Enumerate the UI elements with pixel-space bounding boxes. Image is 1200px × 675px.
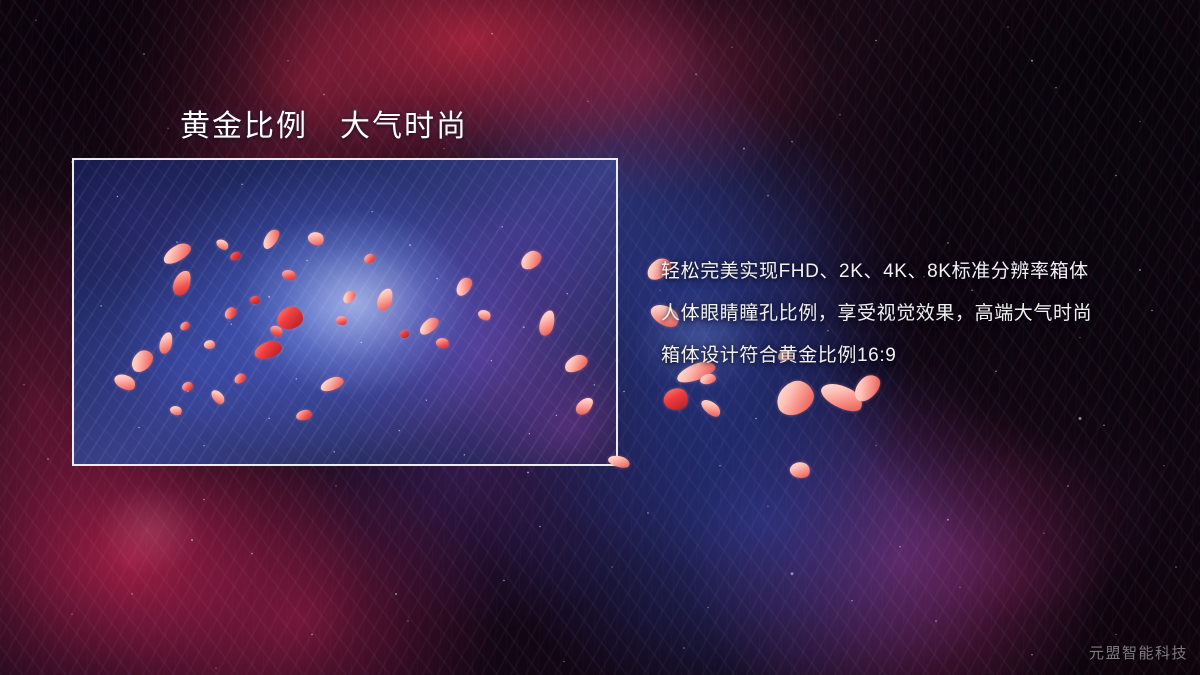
body-copy: 轻松完美实现FHD、2K、4K、8K标准分辨率箱体 人体眼睛瞳孔比例，享受视觉效… (661, 251, 1181, 377)
body-line-2: 人体眼睛瞳孔比例，享受视觉效果，高端大气时尚 (661, 293, 1181, 335)
page-title: 黄金比例 大气时尚 (180, 101, 468, 145)
rose-petal-icon (400, 330, 409, 338)
watermark: 元盟智能科技 (1089, 642, 1188, 663)
body-line-1: 轻松完美实现FHD、2K、4K、8K标准分辨率箱体 (661, 251, 1181, 293)
body-line-3: 箱体设计符合黄金比例16:9 (661, 335, 1181, 377)
slide-canvas: 黄金比例 大气时尚 (0, 0, 1200, 675)
photo-starfield-icon (74, 160, 616, 464)
photo-frame (72, 158, 618, 466)
